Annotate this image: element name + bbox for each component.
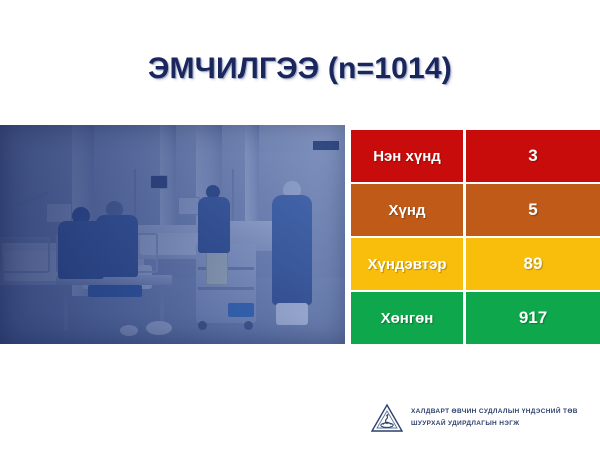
organization-footer: ХАЛДВАРТ ӨВЧИН СУДЛАЛЫН ҮНДЭСНИЙ ТӨВ ШУУ…: [370, 402, 578, 434]
severity-value-cell: 3: [466, 130, 600, 182]
severity-value-cell: 917: [466, 292, 600, 344]
severity-label-cell: Хүнд: [351, 184, 463, 236]
table-row: Хөнгөн 917: [351, 292, 600, 344]
photo-vignette: [0, 125, 345, 344]
severity-value-cell: 5: [466, 184, 600, 236]
biohazard-triangle-icon: [370, 402, 404, 434]
severity-label-cell: Хүндэвтэр: [351, 238, 463, 290]
table-row: Хүнд 5: [351, 184, 600, 236]
page-title: ЭМЧИЛГЭЭ (n=1014): [0, 52, 600, 86]
severity-value-cell: 89: [466, 238, 600, 290]
severity-results-table: Нэн хүнд 3 Хүнд 5 Хүндэвтэр 89 Хөнгөн 91…: [351, 130, 600, 344]
hospital-icu-photo: [0, 125, 345, 344]
severity-label-cell: Хөнгөн: [351, 292, 463, 344]
table-row: Хүндэвтэр 89: [351, 238, 600, 290]
footer-line-1: ХАЛДВАРТ ӨВЧИН СУДЛАЛЫН ҮНДЭСНИЙ ТӨВ: [411, 406, 578, 418]
organization-name: ХАЛДВАРТ ӨВЧИН СУДЛАЛЫН ҮНДЭСНИЙ ТӨВ ШУУ…: [411, 406, 578, 430]
slide-canvas: ЭМЧИЛГЭЭ (n=1014): [0, 0, 600, 450]
table-row: Нэн хүнд 3: [351, 130, 600, 182]
footer-line-2: ШУУРХАЙ УДИРДЛАГЫН НЭГЖ: [411, 418, 578, 430]
severity-label-cell: Нэн хүнд: [351, 130, 463, 182]
